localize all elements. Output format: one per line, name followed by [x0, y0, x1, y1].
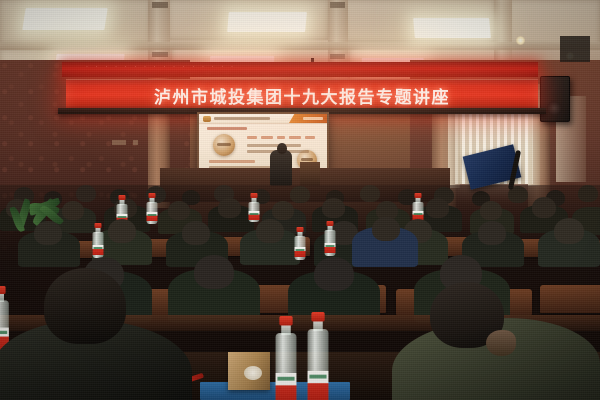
- presenter: [270, 150, 292, 186]
- bottle-label: [249, 211, 260, 220]
- slide-ribbon-accent: [289, 114, 327, 123]
- beam-cap: [152, 2, 168, 8]
- slide-body-text: [261, 136, 273, 139]
- led-ticker-strip: · · · · · · · · · · · · · · · ·: [62, 62, 538, 77]
- slide-body-text: [247, 144, 301, 147]
- bottle-cap: [279, 316, 292, 326]
- ceiling-downlight: [516, 36, 525, 45]
- beam-cap: [152, 52, 168, 57]
- potted-palm: [4, 176, 72, 234]
- slide-body-text: [289, 136, 301, 139]
- audience-head: [554, 218, 584, 244]
- foreground-attendee-left-head: [44, 268, 126, 344]
- bottle-label: [325, 243, 336, 253]
- audience-head: [372, 217, 400, 241]
- event-banner: 泸州市城投集团十九大报告专题讲座: [66, 79, 538, 110]
- audience-head: [290, 186, 310, 203]
- conference-hall-photo: · · · · · · · · · · · · · · · · 泸州市城投集团十…: [0, 0, 600, 400]
- wall-speaker: [540, 76, 570, 122]
- chair-back: [540, 285, 600, 313]
- audience-head: [76, 185, 96, 202]
- audience-head: [272, 201, 294, 220]
- wall-vent: [560, 36, 590, 62]
- bottle-label: [147, 212, 158, 221]
- bottle-cap: [311, 312, 324, 322]
- audience-head: [578, 185, 598, 202]
- slide-body-text: [305, 136, 315, 139]
- audience-head: [182, 221, 210, 245]
- audience-head: [478, 221, 506, 245]
- foreground-attendee-hand: [486, 330, 516, 356]
- bottle-cap: [0, 286, 6, 294]
- ceiling-panel-light: [22, 8, 107, 30]
- bottle-label: [276, 373, 297, 400]
- beam-cap: [330, 2, 345, 8]
- ceiling-panel-light: [413, 18, 491, 38]
- slide-logo-icon: [203, 116, 211, 122]
- ceiling-beam: [0, 42, 600, 50]
- tissue-box-opening: [244, 366, 262, 380]
- banner-title-text: 泸州市城投集团十九大报告专题讲座: [154, 83, 450, 108]
- bottle-label: [93, 245, 104, 255]
- slide-title-text: [214, 117, 270, 120]
- slide-body-text: [277, 136, 285, 139]
- audience-head: [314, 257, 354, 291]
- audience-head: [108, 219, 136, 243]
- wall-switch: [133, 140, 138, 145]
- audience-head: [360, 185, 380, 202]
- ceiling-panel-light: [227, 12, 307, 32]
- slide-emblem-icon: [213, 134, 235, 156]
- audience-head: [194, 255, 234, 289]
- audience-head: [256, 219, 284, 243]
- audience-head: [532, 197, 556, 218]
- wall-plate: [112, 140, 126, 145]
- bottle-label: [308, 371, 329, 400]
- presenter-head: [277, 143, 287, 154]
- audience-head: [480, 201, 502, 220]
- audience-head: [168, 201, 190, 220]
- audience-head: [322, 198, 345, 218]
- audience-head: [218, 198, 241, 218]
- podium: [300, 162, 320, 186]
- beam-cap: [330, 54, 345, 59]
- slide-body-text: [247, 136, 257, 139]
- audience-head: [426, 198, 449, 218]
- led-ticker-text: · · · · · · · · · · · · · · · ·: [86, 64, 528, 70]
- slide-body-text: [209, 160, 255, 163]
- slide-subtitle-text: [207, 127, 247, 130]
- bottle-label: [295, 247, 306, 257]
